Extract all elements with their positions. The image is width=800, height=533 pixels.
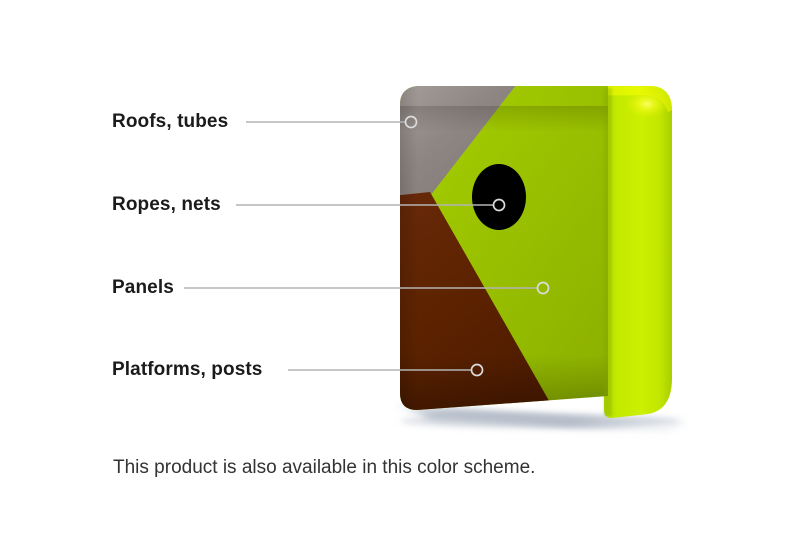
callout-label-platforms-posts: Platforms, posts xyxy=(112,360,262,379)
diagram-canvas: Roofs, tubes Ropes, nets Panels Platform… xyxy=(0,0,800,533)
front-side-seam xyxy=(604,88,612,416)
figure-caption: This product is also available in this c… xyxy=(113,458,535,477)
product-front-face xyxy=(392,80,620,425)
callout-label-panels: Panels xyxy=(112,278,174,297)
region-black-ropes-nets xyxy=(472,164,526,230)
callout-label-ropes-nets: Ropes, nets xyxy=(112,195,221,214)
product-side-face xyxy=(604,86,672,418)
callout-label-roofs-tubes: Roofs, tubes xyxy=(112,112,228,131)
specular-highlight xyxy=(625,89,669,119)
product-illustration xyxy=(0,0,800,533)
